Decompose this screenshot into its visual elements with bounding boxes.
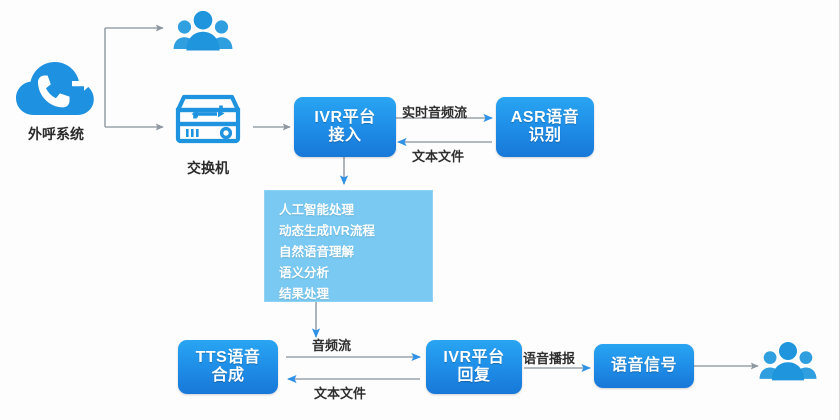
ai-processing-panel[interactable]: 人工智能处理 动态生成IVR流程 自然语音理解 语义分析 结果处理 — [264, 190, 433, 302]
cloud-phone-icon — [14, 55, 96, 121]
ivr-access-line-2: 接入 — [328, 127, 361, 145]
ai-panel-line-5: 结果处理 — [279, 284, 432, 305]
edge-outbound-to-branch — [105, 28, 163, 127]
ivr-access-line-1: IVR平台 — [314, 109, 375, 127]
ivr-reply-box[interactable]: IVR平台 回复 — [426, 340, 522, 394]
people-group-icon-top — [172, 8, 234, 54]
ai-panel-line-1: 人工智能处理 — [279, 200, 432, 221]
asr-box[interactable]: ASR语音 识别 — [496, 97, 594, 157]
switch-label: 交换机 — [158, 158, 258, 178]
ai-panel-line-4: 语义分析 — [279, 263, 432, 284]
edge-label-text-file-bottom: 文本文件 — [314, 383, 366, 402]
voice-signal-box[interactable]: 语音信号 — [594, 344, 694, 388]
outbound-system-label: 外呼系统 — [6, 124, 106, 144]
ai-panel-line-2: 动态生成IVR流程 — [279, 221, 432, 242]
asr-line-1: ASR语音 — [511, 109, 579, 127]
edge-label-text-file-top: 文本文件 — [412, 146, 464, 165]
tts-line-2: 合成 — [211, 367, 244, 385]
network-switch-icon — [172, 92, 244, 154]
tts-line-1: TTS语音 — [196, 349, 261, 367]
edge-label-voice-broadcast: 语音播报 — [523, 348, 575, 367]
ivr-reply-line-1: IVR平台 — [443, 349, 504, 367]
ivr-reply-line-2: 回复 — [457, 367, 490, 385]
asr-line-2: 识别 — [528, 127, 561, 145]
ai-panel-line-3: 自然语音理解 — [279, 242, 432, 263]
tts-box[interactable]: TTS语音 合成 — [178, 340, 278, 394]
diagram-canvas: 外呼系统 交换机 IVR平台 接入 ASR语音 — [0, 0, 840, 420]
voice-signal-line-1: 语音信号 — [611, 357, 677, 375]
people-group-icon-bottom — [758, 339, 818, 384]
edge-label-realtime-audio-stream: 实时音频流 — [402, 102, 467, 121]
ivr-access-box[interactable]: IVR平台 接入 — [294, 97, 396, 157]
edge-label-audio-stream-bottom: 音频流 — [312, 335, 351, 354]
